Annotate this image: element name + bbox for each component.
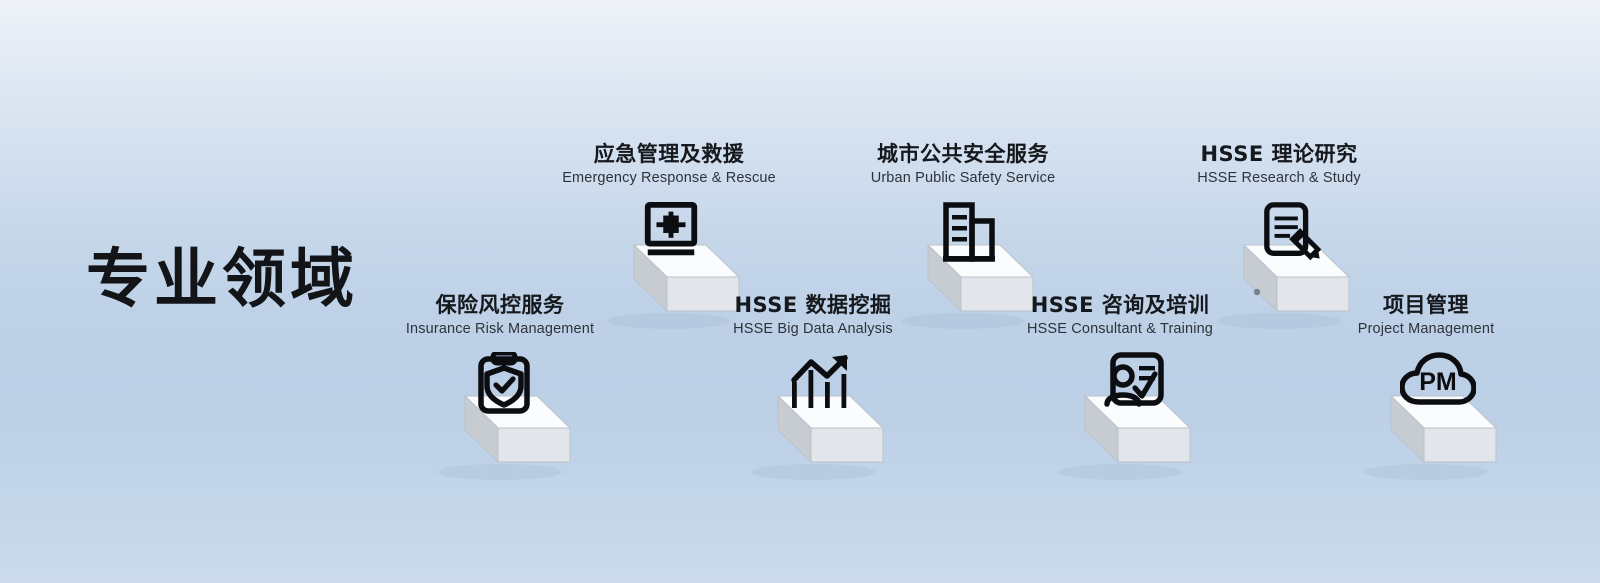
field-title-cn: HSSE 咨询及培训 <box>970 293 1270 319</box>
field-card-consultant[interactable]: HSSE 咨询及培训 HSSE Consultant & Training <box>970 293 1270 482</box>
field-figure <box>663 352 963 482</box>
field-title-en: HSSE Consultant & Training <box>970 321 1270 338</box>
page-title: 专业领域 <box>86 228 358 320</box>
field-title-en: Insurance Risk Management <box>350 321 650 338</box>
professional-fields-banner: 专业领域 应急管理及救援 Emergency Response & Rescue <box>0 0 1600 583</box>
field-title-en: Urban Public Safety Service <box>813 170 1113 187</box>
field-title-cn: 项目管理 <box>1276 293 1576 319</box>
person-id-card-check-icon <box>1103 352 1165 410</box>
field-figure <box>970 352 1270 482</box>
field-figure: PM <box>1276 352 1576 482</box>
field-title-en: HSSE Research & Study <box>1129 170 1429 187</box>
city-buildings-icon <box>940 201 998 265</box>
field-card-project[interactable]: 项目管理 Project Management PM <box>1276 293 1576 482</box>
field-title-en: Emergency Response & Rescue <box>519 170 819 187</box>
field-labels: 应急管理及救援 Emergency Response & Rescue <box>519 142 819 187</box>
document-pencil-icon <box>1262 201 1324 263</box>
field-title-en: HSSE Big Data Analysis <box>663 321 963 338</box>
field-title-cn: 应急管理及救援 <box>519 142 819 168</box>
first-aid-document-icon <box>640 201 702 263</box>
field-labels: HSSE 数据挖掘 HSSE Big Data Analysis <box>663 293 963 338</box>
field-figure <box>350 352 650 482</box>
field-title-en: Project Management <box>1276 321 1576 338</box>
field-title-cn: HSSE 数据挖掘 <box>663 293 963 319</box>
field-card-insurance[interactable]: 保险风控服务 Insurance Risk Management <box>350 293 650 482</box>
bar-chart-trend-arrow-icon <box>789 352 853 414</box>
field-labels: 城市公共安全服务 Urban Public Safety Service <box>813 142 1113 187</box>
field-labels: 项目管理 Project Management <box>1276 293 1576 338</box>
field-title-cn: 保险风控服务 <box>350 293 650 319</box>
field-labels: HSSE 咨询及培训 HSSE Consultant & Training <box>970 293 1270 338</box>
field-labels: HSSE 理论研究 HSSE Research & Study <box>1129 142 1429 187</box>
field-title-cn: 城市公共安全服务 <box>813 142 1113 168</box>
field-card-bigdata[interactable]: HSSE 数据挖掘 HSSE Big Data Analysis <box>663 293 963 482</box>
cloud-pm-icon: PM <box>1400 352 1476 408</box>
cloud-pm-label: PM <box>1419 368 1457 396</box>
clipboard-shield-check-icon <box>474 352 534 416</box>
field-labels: 保险风控服务 Insurance Risk Management <box>350 293 650 338</box>
field-title-cn: HSSE 理论研究 <box>1129 142 1429 168</box>
